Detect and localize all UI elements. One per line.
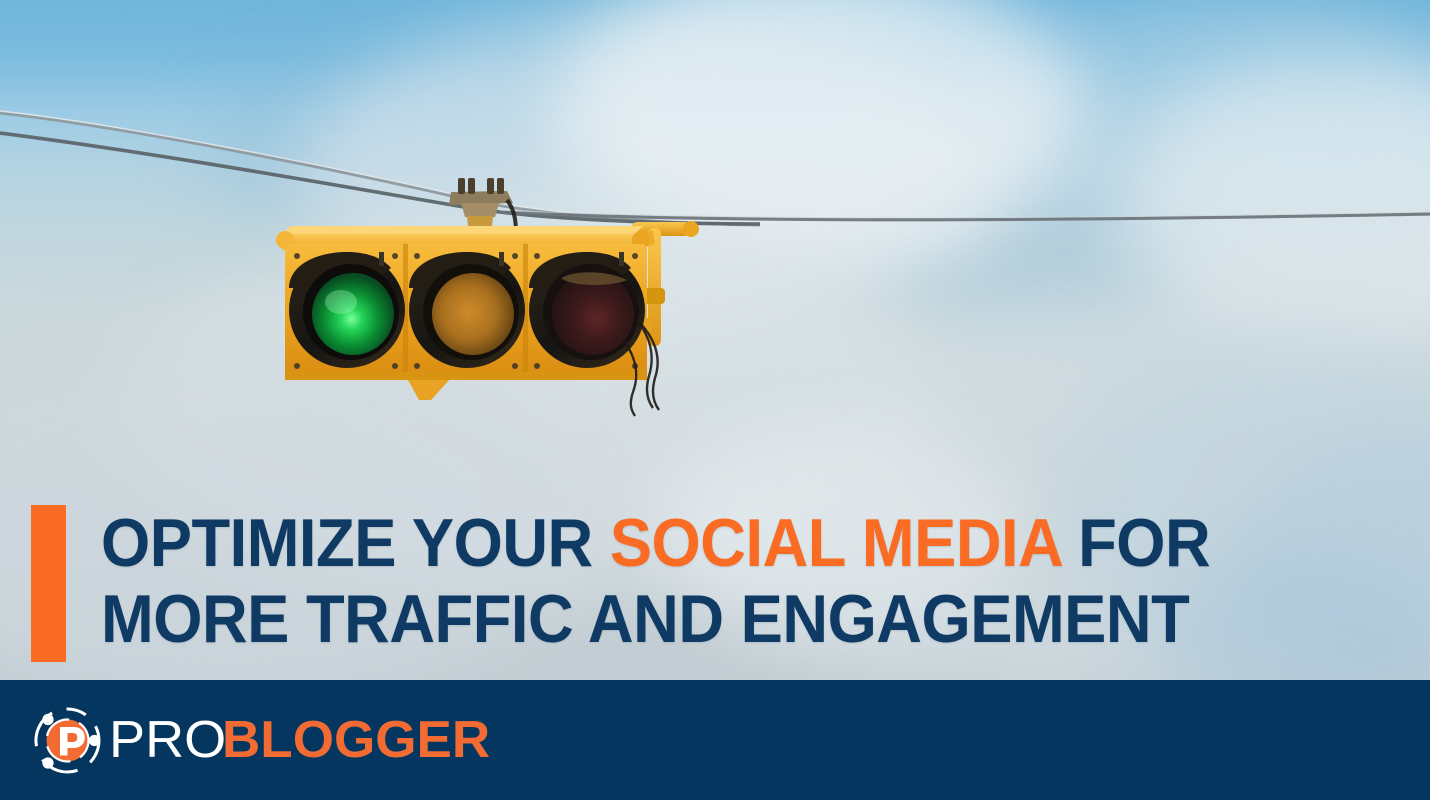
hero-banner: OPTIMIZE YOUR SOCIAL MEDIA FOR MORE TRAF… <box>0 0 1430 800</box>
headline-block: OPTIMIZE YOUR SOCIAL MEDIA FOR MORE TRAF… <box>31 505 1294 662</box>
problogger-wordmark: PROBLOGGER <box>109 714 485 766</box>
traffic-light-photo <box>255 170 715 420</box>
red-lamp <box>552 273 634 355</box>
headline-line-1: OPTIMIZE YOUR SOCIAL MEDIA FOR <box>101 505 1210 581</box>
problogger-p-mark-icon <box>30 703 105 778</box>
problogger-logo[interactable]: PROBLOGGER <box>30 700 485 780</box>
headline-line-2: MORE TRAFFIC AND ENGAGEMENT <box>101 581 1210 657</box>
headline-line1-part2: FOR <box>1061 505 1210 581</box>
lamp-visors <box>289 252 645 368</box>
amber-lamp <box>432 273 514 355</box>
logo-word-pro: PRO <box>109 714 226 766</box>
headline-text: OPTIMIZE YOUR SOCIAL MEDIA FOR MORE TRAF… <box>101 505 1294 662</box>
headline-line1-part1: OPTIMIZE YOUR <box>101 505 610 581</box>
headline-highlight: SOCIAL MEDIA <box>610 505 1061 581</box>
logo-word-blogger: BLOGGER <box>222 714 490 766</box>
orange-accent-bar <box>31 505 66 662</box>
green-lamp <box>312 273 394 355</box>
